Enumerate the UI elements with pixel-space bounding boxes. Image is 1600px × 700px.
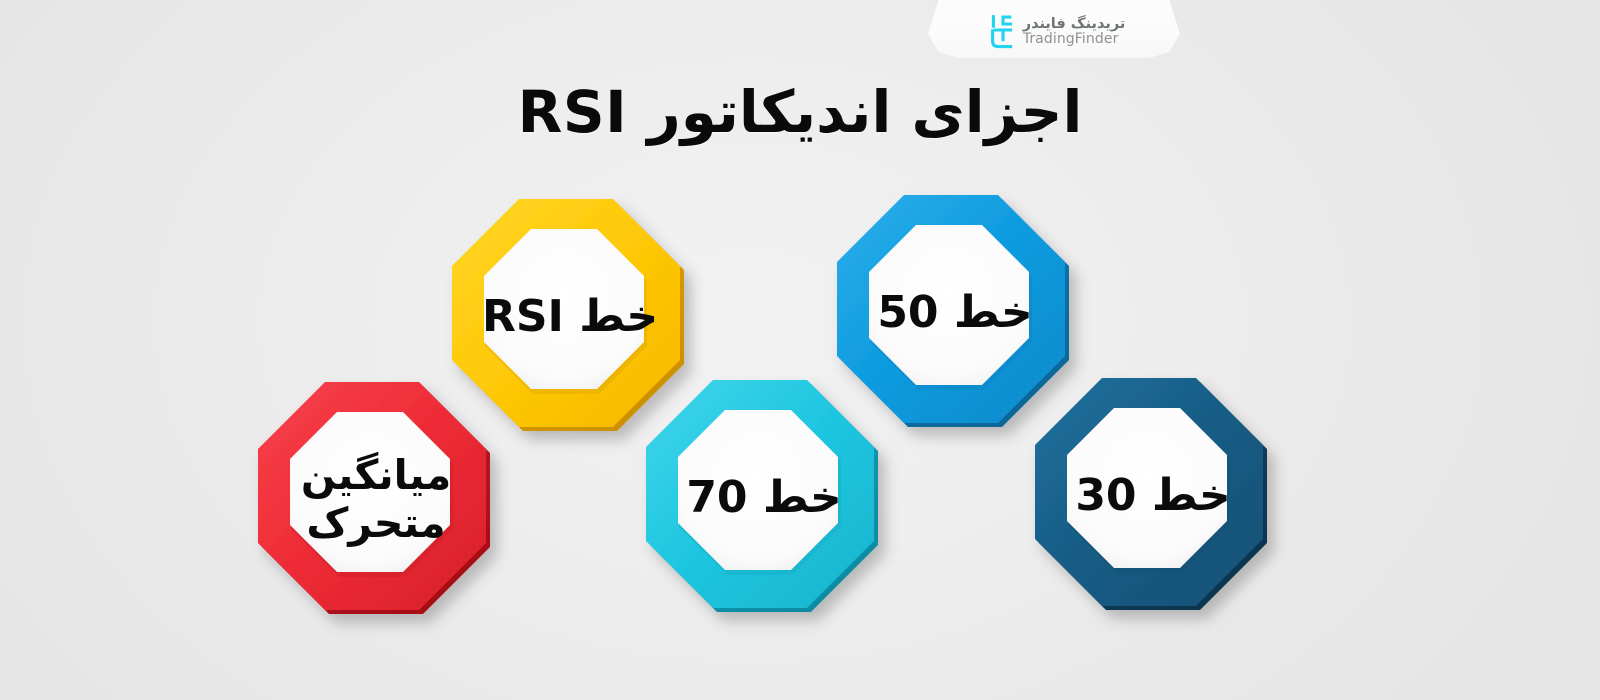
logo-wordmark: تریدینگ فایندر TradingFinder <box>1023 16 1126 48</box>
logo-persian-text: تریدینگ فایندر <box>1023 16 1126 32</box>
logo-english-text: TradingFinder <box>1023 32 1119 48</box>
octagon-shape-line-30 <box>1028 371 1278 621</box>
page-title: اجزای اندیکاتور RSI <box>0 78 1600 146</box>
node-line-30[interactable]: خط 30 <box>1028 371 1278 621</box>
infographic-canvas: تریدینگ فایندر TradingFinder اجزای اندیک… <box>0 0 1600 700</box>
tradingfinder-t-mark-icon <box>983 15 1013 49</box>
tradingfinder-logo[interactable]: تریدینگ فایندر TradingFinder <box>936 6 1172 58</box>
